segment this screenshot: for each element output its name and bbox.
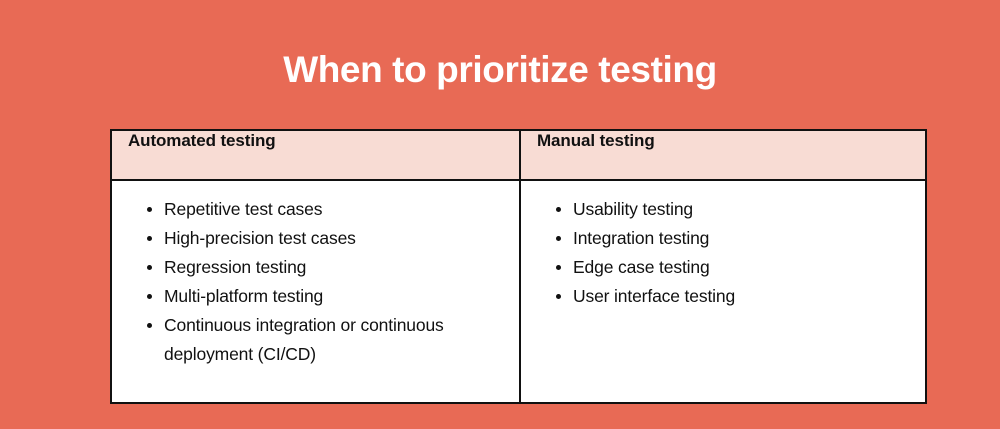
table-body: Repetitive test cases High-precision tes… <box>111 180 926 403</box>
list-item: Regression testing <box>164 253 505 282</box>
page-title: When to prioritize testing <box>0 48 1000 92</box>
list-item: Multi-platform testing <box>164 282 505 311</box>
table-header: Automated testing Manual testing <box>111 130 926 180</box>
column-header-automated-testing: Automated testing <box>111 130 520 180</box>
column-header-manual-testing: Manual testing <box>520 130 926 180</box>
automated-testing-list: Repetitive test cases High-precision tes… <box>112 195 505 369</box>
manual-testing-list: Usability testing Integration testing Ed… <box>521 195 911 311</box>
list-item: User interface testing <box>573 282 911 311</box>
table-row: Repetitive test cases High-precision tes… <box>111 180 926 403</box>
list-item: Edge case testing <box>573 253 911 282</box>
list-item: Repetitive test cases <box>164 195 505 224</box>
list-item: High-precision test cases <box>164 224 505 253</box>
cell-manual-testing: Usability testing Integration testing Ed… <box>520 180 926 403</box>
list-item: Integration testing <box>573 224 911 253</box>
table-header-row: Automated testing Manual testing <box>111 130 926 180</box>
list-item: Continuous integration or continuous dep… <box>164 311 505 369</box>
testing-comparison-table: Automated testing Manual testing Repetit… <box>110 129 927 404</box>
list-item: Usability testing <box>573 195 911 224</box>
cell-automated-testing: Repetitive test cases High-precision tes… <box>111 180 520 403</box>
